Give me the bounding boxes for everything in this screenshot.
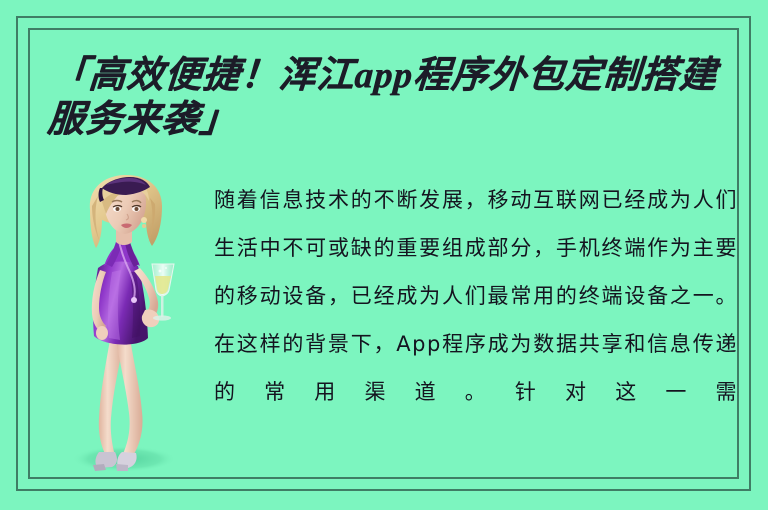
article-body: 随着信息技术的不断发展，移动互联网已经成为人们生活中不可或缺的重要组成部分，手机… bbox=[214, 176, 738, 464]
page-title: 「高效便捷！浑江app程序外包定制搭建服务来袭」 bbox=[46, 54, 722, 142]
illustration-graphic bbox=[52, 172, 212, 482]
woman-with-champagne-illustration bbox=[52, 172, 212, 482]
